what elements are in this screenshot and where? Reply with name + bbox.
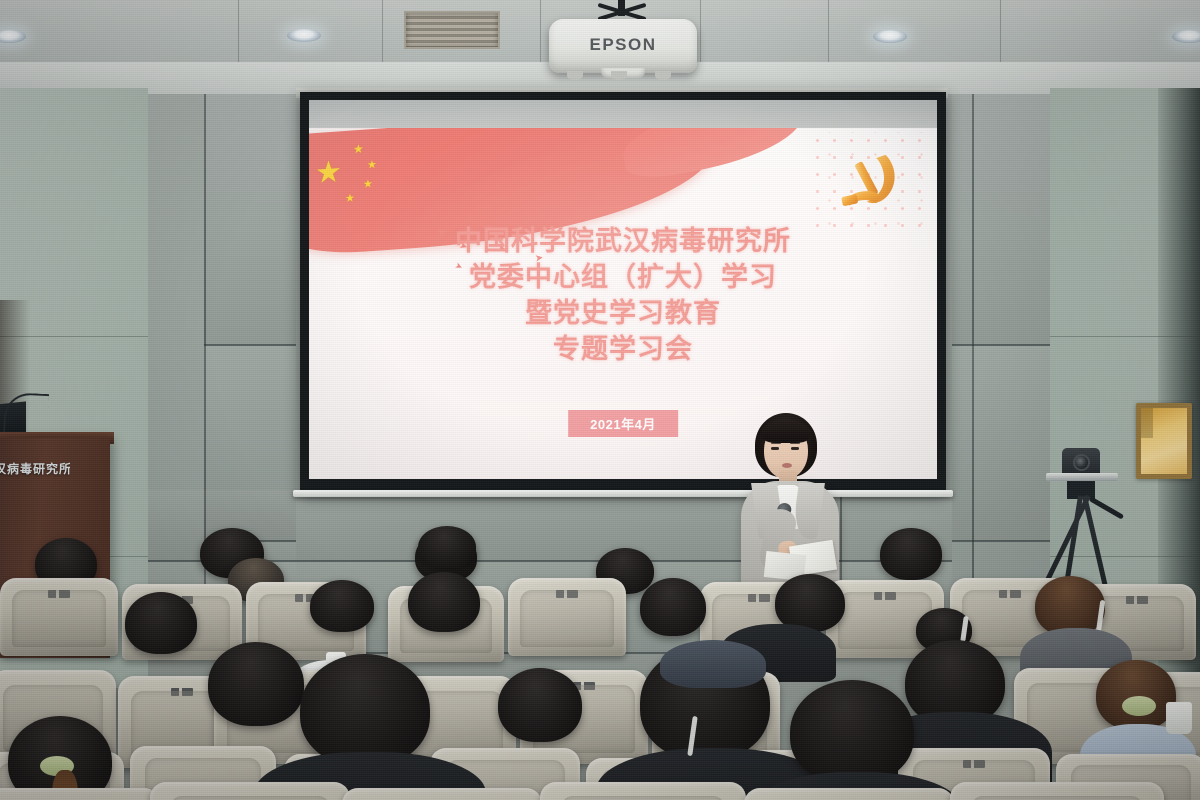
seat-badge-icon (874, 592, 896, 600)
audience-head (498, 668, 582, 742)
audience-head (125, 592, 197, 654)
auditorium-seat[interactable] (950, 782, 1164, 800)
seat-badge-icon (556, 590, 578, 598)
camera-mount-plate (1046, 473, 1118, 481)
audience-head (300, 654, 430, 766)
hair-scrunchie-icon (1122, 696, 1156, 716)
audience-head (418, 526, 476, 568)
flag-star-icon: ★ (345, 193, 355, 205)
seat-badge-icon (963, 760, 985, 768)
slide-title-line-4: 专题学习会 (309, 332, 937, 368)
slide-title-line-2: 党委中心组（扩大）学习 (309, 260, 937, 296)
window-glass (1141, 408, 1187, 474)
paper-cup-icon (1166, 702, 1192, 734)
flag-star-icon: ★ (363, 179, 373, 191)
projector-icon: EPSON (549, 19, 697, 73)
cpc-hammer-sickle-emblem-icon (827, 144, 913, 222)
lectern-sign-text: 汉病毒研究所 (0, 458, 70, 480)
audience-head (1035, 576, 1105, 636)
seat-badge-icon (999, 590, 1021, 598)
seat-badge-icon (48, 590, 70, 598)
slide-title: 中国科学院武汉病毒研究所 党委中心组（扩大）学习 暨党史学习教育 专题学习会 (309, 224, 937, 368)
projector-brand-label: EPSON (549, 35, 697, 55)
seat-badge-icon (748, 594, 770, 602)
slide-title-line-3: 暨党史学习教育 (309, 296, 937, 332)
auditorium-seat[interactable] (540, 782, 746, 800)
air-vent-icon (404, 11, 500, 49)
downlight-icon (0, 30, 26, 43)
wood-framed-window-icon (1136, 403, 1192, 479)
auditorium-seat[interactable] (342, 788, 542, 800)
audience-head (208, 642, 304, 726)
slide-title-line-1: 中国科学院武汉病毒研究所 (309, 224, 937, 260)
presenter-fringe (762, 421, 810, 443)
camera-lens-icon (1073, 454, 1090, 471)
auditorium-seat[interactable] (0, 788, 160, 800)
auditorium-seat[interactable] (150, 782, 350, 800)
flag-star-icon: ★ (315, 157, 342, 189)
seated-audience (0, 520, 1200, 800)
audience-head (640, 578, 706, 636)
downlight-icon (287, 29, 321, 42)
auditorium-seat[interactable] (744, 788, 954, 800)
audience-head (880, 528, 942, 580)
audience-head (1096, 660, 1176, 730)
screen-top-strip (309, 100, 937, 128)
audience-head (408, 572, 480, 632)
downlight-icon (1172, 30, 1200, 43)
downlight-icon (873, 30, 907, 43)
baseball-cap-icon (660, 640, 766, 688)
flag-star-icon: ★ (367, 160, 377, 172)
auditorium-seat[interactable] (0, 578, 118, 656)
audience-head (310, 580, 374, 632)
seat-badge-icon (171, 688, 193, 696)
auditorium-seat[interactable] (508, 578, 626, 656)
slide-date-badge: 2021年4月 (568, 410, 678, 437)
flag-star-icon: ★ (353, 143, 364, 156)
seat-badge-icon (1126, 596, 1148, 604)
audience-head (790, 680, 914, 784)
conference-room-scene: EPSON (0, 0, 1200, 800)
